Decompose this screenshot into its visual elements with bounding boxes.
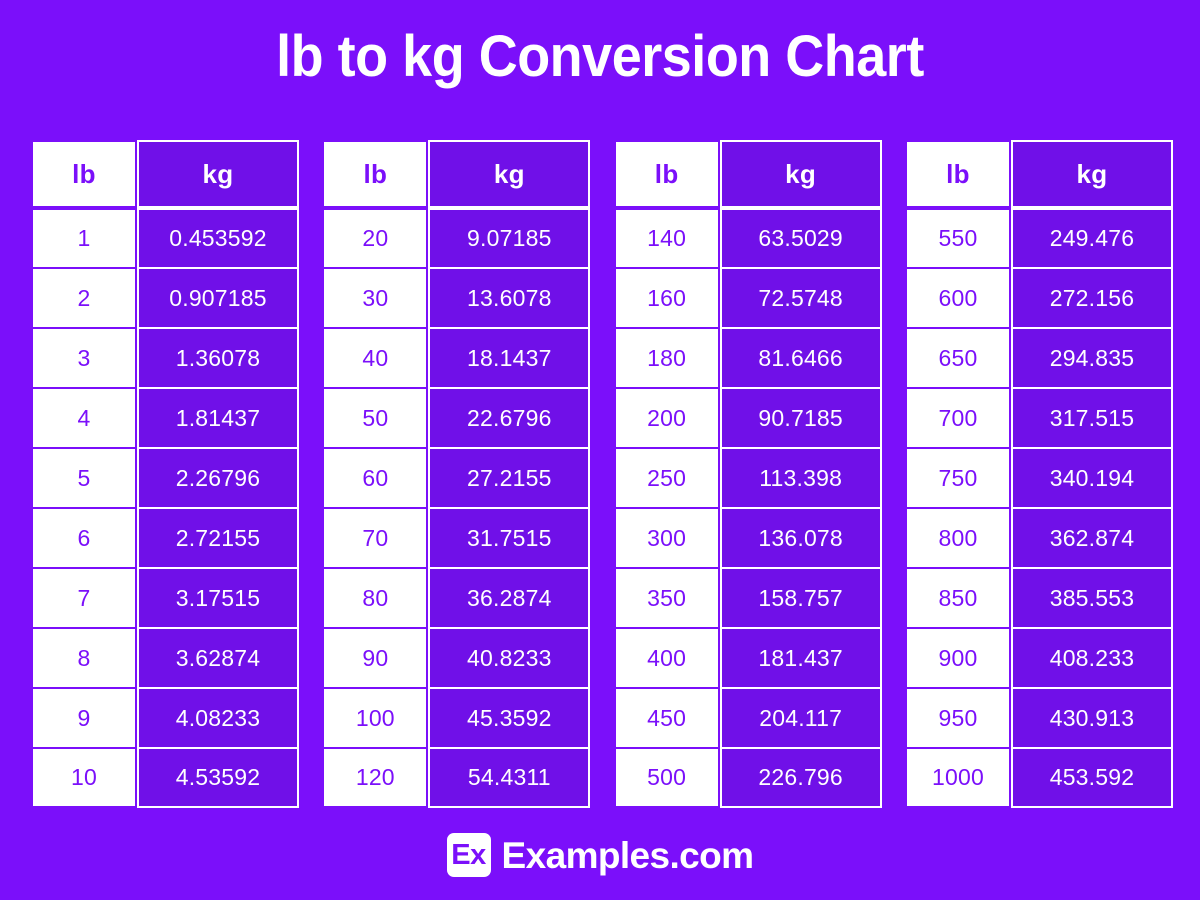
table-row: 14063.5029 xyxy=(614,208,882,268)
column-header-kg: kg xyxy=(137,140,299,208)
cell-lb-value: 2 xyxy=(31,268,137,328)
table-row: 800362.874 xyxy=(905,508,1173,568)
cell-kg-value: 54.4311 xyxy=(428,748,590,808)
cell-kg-value: 249.476 xyxy=(1011,208,1173,268)
table-row: 850385.553 xyxy=(905,568,1173,628)
column-header-lb: lb xyxy=(31,140,137,208)
cell-lb-value: 1000 xyxy=(905,748,1011,808)
cell-lb-value: 650 xyxy=(905,328,1011,388)
cell-lb-value: 90 xyxy=(322,628,428,688)
cell-kg-value: 31.7515 xyxy=(428,508,590,568)
table-row: 8036.2874 xyxy=(322,568,590,628)
cell-kg-value: 2.26796 xyxy=(137,448,299,508)
table-row: 83.62874 xyxy=(31,628,299,688)
column-header-kg: kg xyxy=(428,140,590,208)
cell-kg-value: 430.913 xyxy=(1011,688,1173,748)
cell-lb-value: 140 xyxy=(614,208,720,268)
table-row: 4018.1437 xyxy=(322,328,590,388)
cell-lb-value: 4 xyxy=(31,388,137,448)
cell-lb-value: 20 xyxy=(322,208,428,268)
cell-kg-value: 1.36078 xyxy=(137,328,299,388)
cell-lb-value: 350 xyxy=(614,568,720,628)
table-row: 650294.835 xyxy=(905,328,1173,388)
conversion-table-2: lbkg209.071853013.60784018.14375022.6796… xyxy=(322,140,590,812)
conversion-table-1: lbkg10.45359220.90718531.3607841.8143752… xyxy=(31,140,299,812)
cell-kg-value: 45.3592 xyxy=(428,688,590,748)
table-header-row: lbkg xyxy=(31,140,299,208)
cell-lb-value: 450 xyxy=(614,688,720,748)
cell-lb-value: 6 xyxy=(31,508,137,568)
cell-kg-value: 40.8233 xyxy=(428,628,590,688)
conversion-table-3: lbkg14063.502916072.574818081.646620090.… xyxy=(614,140,882,812)
cell-lb-value: 180 xyxy=(614,328,720,388)
cell-kg-value: 204.117 xyxy=(720,688,882,748)
table-row: 550249.476 xyxy=(905,208,1173,268)
cell-kg-value: 362.874 xyxy=(1011,508,1173,568)
cell-lb-value: 9 xyxy=(31,688,137,748)
column-header-lb: lb xyxy=(614,140,720,208)
cell-kg-value: 9.07185 xyxy=(428,208,590,268)
cell-kg-value: 63.5029 xyxy=(720,208,882,268)
cell-kg-value: 294.835 xyxy=(1011,328,1173,388)
table-row: 31.36078 xyxy=(31,328,299,388)
examples-logo-text: Examples.com xyxy=(502,837,754,874)
cell-lb-value: 400 xyxy=(614,628,720,688)
table-row: 1000453.592 xyxy=(905,748,1173,808)
cell-lb-value: 550 xyxy=(905,208,1011,268)
table-row: 209.07185 xyxy=(322,208,590,268)
cell-kg-value: 27.2155 xyxy=(428,448,590,508)
table-row: 94.08233 xyxy=(31,688,299,748)
column-header-kg: kg xyxy=(1011,140,1173,208)
table-row: 104.53592 xyxy=(31,748,299,808)
cell-lb-value: 8 xyxy=(31,628,137,688)
cell-kg-value: 136.078 xyxy=(720,508,882,568)
cell-lb-value: 70 xyxy=(322,508,428,568)
table-row: 10045.3592 xyxy=(322,688,590,748)
cell-lb-value: 900 xyxy=(905,628,1011,688)
cell-lb-value: 7 xyxy=(31,568,137,628)
conversion-table-4: lbkg550249.476600272.156650294.835700317… xyxy=(905,140,1173,812)
cell-kg-value: 4.53592 xyxy=(137,748,299,808)
table-row: 400181.437 xyxy=(614,628,882,688)
cell-kg-value: 181.437 xyxy=(720,628,882,688)
table-row: 20090.7185 xyxy=(614,388,882,448)
cell-kg-value: 18.1437 xyxy=(428,328,590,388)
table-row: 20.907185 xyxy=(31,268,299,328)
cell-lb-value: 700 xyxy=(905,388,1011,448)
footer-logo: Ex Examples.com xyxy=(0,833,1200,877)
table-row: 3013.6078 xyxy=(322,268,590,328)
cell-lb-value: 800 xyxy=(905,508,1011,568)
cell-lb-value: 100 xyxy=(322,688,428,748)
table-row: 5022.6796 xyxy=(322,388,590,448)
cell-lb-value: 850 xyxy=(905,568,1011,628)
column-header-kg: kg xyxy=(720,140,882,208)
cell-lb-value: 3 xyxy=(31,328,137,388)
examples-logo-icon: Ex xyxy=(447,833,491,877)
table-header-row: lbkg xyxy=(614,140,882,208)
table-row: 900408.233 xyxy=(905,628,1173,688)
table-header-row: lbkg xyxy=(322,140,590,208)
page-title: lb to kg Conversion Chart xyxy=(42,26,1158,88)
cell-kg-value: 3.17515 xyxy=(137,568,299,628)
cell-kg-value: 340.194 xyxy=(1011,448,1173,508)
conversion-tables-group: lbkg10.45359220.90718531.3607841.8143752… xyxy=(31,140,1173,812)
cell-kg-value: 272.156 xyxy=(1011,268,1173,328)
table-header-row: lbkg xyxy=(905,140,1173,208)
table-row: 7031.7515 xyxy=(322,508,590,568)
table-row: 73.17515 xyxy=(31,568,299,628)
table-row: 250113.398 xyxy=(614,448,882,508)
cell-lb-value: 300 xyxy=(614,508,720,568)
table-row: 950430.913 xyxy=(905,688,1173,748)
table-row: 450204.117 xyxy=(614,688,882,748)
cell-lb-value: 750 xyxy=(905,448,1011,508)
cell-kg-value: 0.453592 xyxy=(137,208,299,268)
cell-kg-value: 2.72155 xyxy=(137,508,299,568)
table-row: 10.453592 xyxy=(31,208,299,268)
cell-kg-value: 113.398 xyxy=(720,448,882,508)
table-row: 750340.194 xyxy=(905,448,1173,508)
cell-kg-value: 317.515 xyxy=(1011,388,1173,448)
table-row: 52.26796 xyxy=(31,448,299,508)
conversion-chart-page: lb to kg Conversion Chart lbkg10.4535922… xyxy=(0,0,1200,900)
table-row: 41.81437 xyxy=(31,388,299,448)
cell-lb-value: 5 xyxy=(31,448,137,508)
cell-lb-value: 160 xyxy=(614,268,720,328)
column-header-lb: lb xyxy=(905,140,1011,208)
cell-lb-value: 500 xyxy=(614,748,720,808)
cell-lb-value: 950 xyxy=(905,688,1011,748)
cell-kg-value: 408.233 xyxy=(1011,628,1173,688)
table-row: 300136.078 xyxy=(614,508,882,568)
table-row: 9040.8233 xyxy=(322,628,590,688)
cell-lb-value: 200 xyxy=(614,388,720,448)
cell-lb-value: 600 xyxy=(905,268,1011,328)
table-row: 350158.757 xyxy=(614,568,882,628)
cell-kg-value: 81.6466 xyxy=(720,328,882,388)
table-row: 18081.6466 xyxy=(614,328,882,388)
cell-kg-value: 1.81437 xyxy=(137,388,299,448)
cell-kg-value: 36.2874 xyxy=(428,568,590,628)
table-row: 12054.4311 xyxy=(322,748,590,808)
cell-kg-value: 72.5748 xyxy=(720,268,882,328)
cell-lb-value: 250 xyxy=(614,448,720,508)
cell-lb-value: 50 xyxy=(322,388,428,448)
cell-kg-value: 0.907185 xyxy=(137,268,299,328)
cell-lb-value: 1 xyxy=(31,208,137,268)
cell-kg-value: 453.592 xyxy=(1011,748,1173,808)
table-row: 6027.2155 xyxy=(322,448,590,508)
cell-lb-value: 60 xyxy=(322,448,428,508)
cell-lb-value: 80 xyxy=(322,568,428,628)
cell-kg-value: 22.6796 xyxy=(428,388,590,448)
cell-kg-value: 158.757 xyxy=(720,568,882,628)
table-row: 500226.796 xyxy=(614,748,882,808)
cell-kg-value: 90.7185 xyxy=(720,388,882,448)
table-row: 600272.156 xyxy=(905,268,1173,328)
table-row: 16072.5748 xyxy=(614,268,882,328)
cell-kg-value: 3.62874 xyxy=(137,628,299,688)
cell-kg-value: 385.553 xyxy=(1011,568,1173,628)
cell-kg-value: 4.08233 xyxy=(137,688,299,748)
table-row: 62.72155 xyxy=(31,508,299,568)
cell-kg-value: 226.796 xyxy=(720,748,882,808)
cell-kg-value: 13.6078 xyxy=(428,268,590,328)
column-header-lb: lb xyxy=(322,140,428,208)
cell-lb-value: 30 xyxy=(322,268,428,328)
cell-lb-value: 10 xyxy=(31,748,137,808)
cell-lb-value: 40 xyxy=(322,328,428,388)
table-row: 700317.515 xyxy=(905,388,1173,448)
cell-lb-value: 120 xyxy=(322,748,428,808)
